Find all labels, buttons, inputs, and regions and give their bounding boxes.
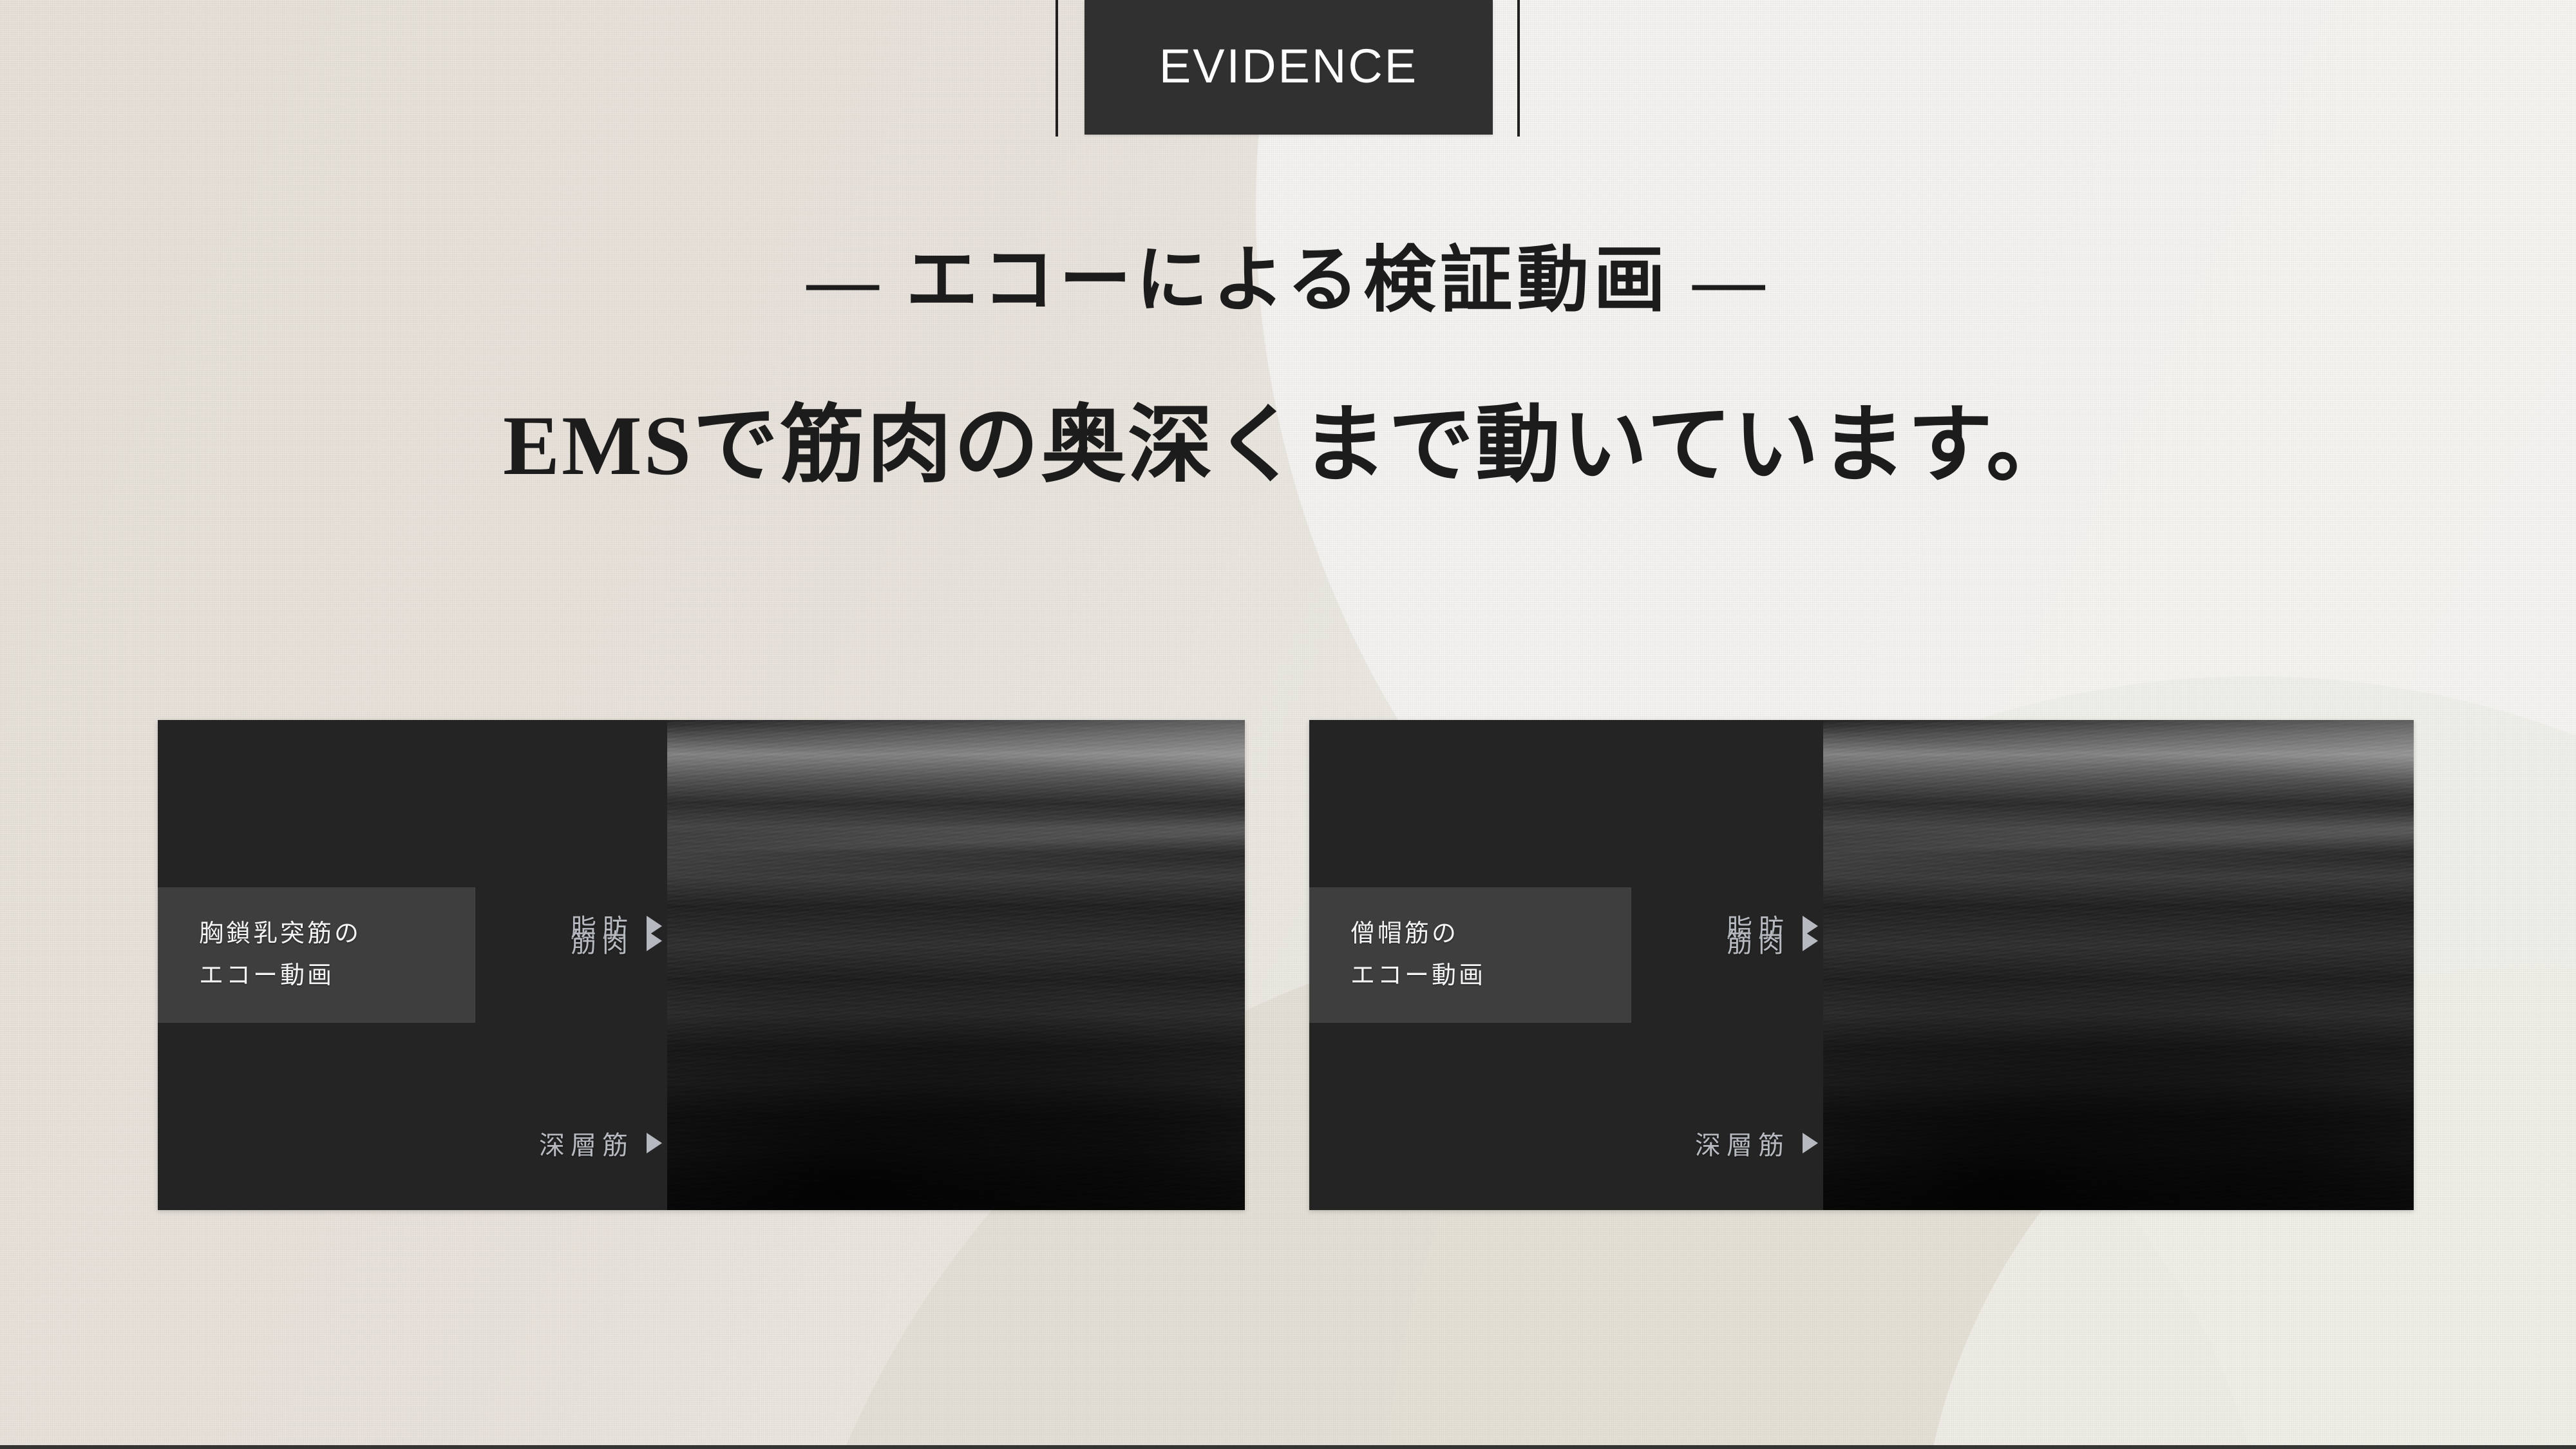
section-subheading: — エコーによる検証動画 —: [0, 238, 2576, 323]
badge-label: EVIDENCE: [1159, 43, 1418, 93]
caption-line-1: 僧帽筋の: [1350, 913, 1631, 955]
arrow-right-icon: [647, 1133, 662, 1153]
echo-panel-sternocleidomastoid[interactable]: 脂肪 筋肉 深層筋 胸鎖乳突筋の エコー動画: [158, 720, 1245, 1210]
layer-label-deep-muscle: 深層筋: [539, 1124, 662, 1162]
section-heading: EMSで筋肉の奥深くまで動いています。: [0, 395, 2576, 496]
ultrasound-vignette: [1823, 720, 2414, 1210]
layer-label-deep-muscle: 深層筋: [1695, 1124, 1818, 1162]
arrow-right-icon: [1803, 1133, 1818, 1153]
ultrasound-image-right: [1823, 720, 2414, 1210]
layer-label-muscle: 筋肉: [571, 922, 662, 960]
echo-video-panels: 脂肪 筋肉 深層筋 胸鎖乳突筋の エコー動画: [0, 720, 2576, 1211]
badge-rule-right: [1517, 0, 1520, 137]
layer-label-muscle-text: 筋肉: [571, 922, 634, 960]
headings-group: — エコーによる検証動画 — EMSで筋肉の奥深くまで動いています。: [0, 238, 2576, 496]
badge-rule-left: [1056, 0, 1058, 137]
caption-line-2: エコー動画: [1350, 955, 1631, 997]
panel-caption-right: 僧帽筋の エコー動画: [1309, 887, 1631, 1023]
caption-line-1: 胸鎖乳突筋の: [199, 913, 475, 955]
echo-panel-trapezius[interactable]: 脂肪 筋肉 深層筋 僧帽筋の エコー動画: [1309, 720, 2414, 1210]
ultrasound-image-left: [667, 720, 1245, 1210]
badge-box: EVIDENCE: [1084, 0, 1493, 135]
arrow-right-icon: [1803, 931, 1818, 951]
panel-caption-left: 胸鎖乳突筋の エコー動画: [158, 887, 475, 1023]
arrow-right-icon: [647, 931, 662, 951]
caption-line-2: エコー動画: [199, 955, 475, 997]
layer-label-muscle-text: 筋肉: [1727, 922, 1790, 960]
ultrasound-vignette: [667, 720, 1245, 1210]
evidence-badge: EVIDENCE: [0, 0, 2576, 138]
evidence-section: EVIDENCE — エコーによる検証動画 — EMSで筋肉の奥深くまで動いてい…: [0, 0, 2576, 1449]
layer-label-muscle: 筋肉: [1727, 922, 1818, 960]
layer-label-deep-muscle-text: 深層筋: [539, 1124, 634, 1162]
layer-label-deep-muscle-text: 深層筋: [1695, 1124, 1790, 1162]
bottom-edge-strip: [0, 1445, 2576, 1449]
